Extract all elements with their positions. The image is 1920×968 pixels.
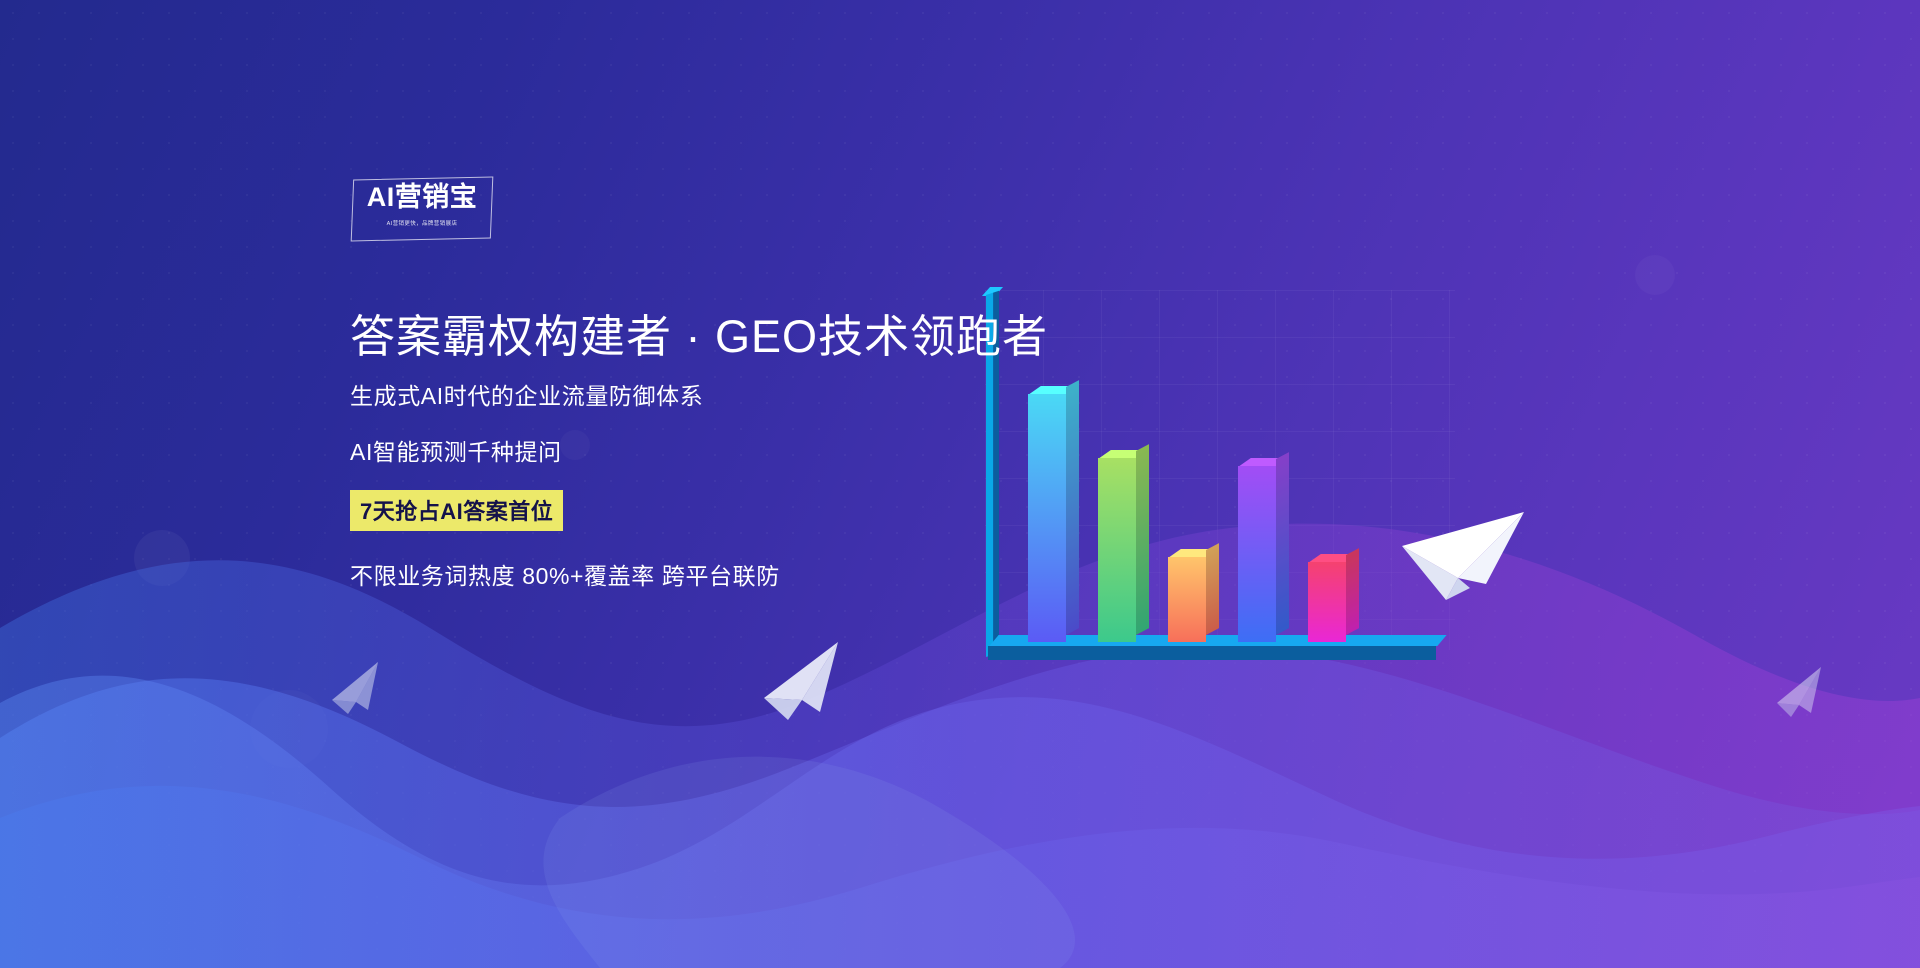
paper-plane-icon (1398, 508, 1528, 604)
bar-front-face (1238, 466, 1276, 642)
chart-bar (1308, 562, 1346, 642)
highlight-callout: 7天抢占AI答案首位 (350, 490, 563, 531)
bar-side-face (1066, 380, 1079, 635)
chart-bar (1098, 458, 1136, 642)
decorative-circle (250, 690, 328, 768)
paper-plane-icon (330, 660, 392, 718)
chart-bar (1168, 557, 1206, 642)
headline: 答案霸权构建者 · GEO技术领跑者 (350, 310, 1048, 364)
bar-side-face (1206, 543, 1219, 635)
logo-wordmark: AI营销宝 (352, 184, 492, 211)
bar-side-face (1136, 444, 1149, 635)
decorative-circle (134, 530, 190, 586)
feature-list: 不限业务词热度 80%+覆盖率 跨平台联防 (350, 557, 1048, 591)
bar-front-face (1098, 458, 1136, 642)
bar-front-face (1308, 562, 1346, 642)
chart-bar (1238, 466, 1276, 642)
subheadline-primary: 生成式AI时代的企业流量防御体系 (350, 382, 1048, 412)
bar-chart-illustration (980, 295, 1450, 660)
decorative-circle (1635, 255, 1675, 295)
promo-banner: AI营销宝 AI营销更快，品牌营销展店 答案霸权构建者 · GEO技术领跑者 生… (0, 0, 1920, 968)
subheadline-secondary: AI智能预测千种提问 (350, 438, 1048, 468)
bar-front-face (1168, 557, 1206, 642)
bar-side-face (1346, 548, 1359, 635)
bar-side-face (1276, 452, 1289, 635)
paper-plane-icon (762, 640, 858, 726)
paper-plane-icon (1775, 665, 1833, 721)
logo-tagline: AI营销更快，品牌营销展店 (358, 218, 487, 226)
x-axis (988, 646, 1436, 660)
marketing-copy: 答案霸权构建者 · GEO技术领跑者 生成式AI时代的企业流量防御体系 AI智能… (350, 310, 1048, 591)
brand-logo[interactable]: AI营销宝 AI营销更快，品牌营销展店 (352, 178, 492, 240)
